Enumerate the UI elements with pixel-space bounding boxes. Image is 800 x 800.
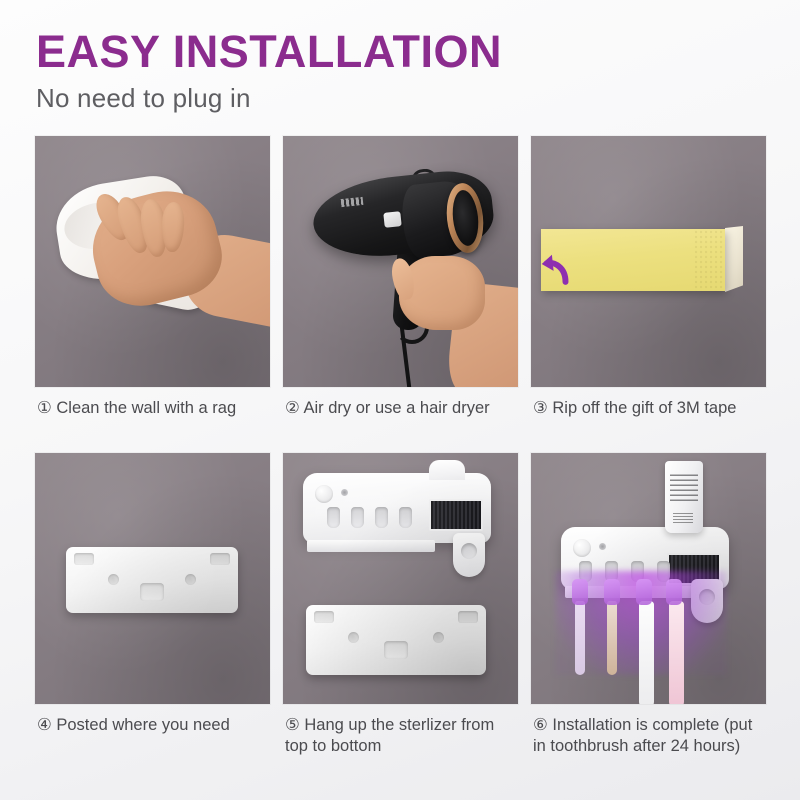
solar-panel <box>429 499 483 531</box>
step-3-caption: ③ Rip off the gift of 3M tape <box>531 387 766 449</box>
peel-arrow-icon <box>540 253 574 287</box>
indicator-led <box>341 489 348 496</box>
plate-notch <box>314 611 334 623</box>
brush-slot <box>375 507 388 528</box>
step-2-photo <box>283 136 518 387</box>
toothbrush <box>575 601 585 675</box>
step-4-caption: ④ Posted where you need <box>35 704 270 778</box>
step-card-3: ③ Rip off the gift of 3M tape <box>531 136 766 449</box>
step-card-6: ⑥ Installation is complete (put in tooth… <box>531 453 766 778</box>
power-knob <box>573 539 591 557</box>
mounting-plate <box>306 605 486 675</box>
toothbrush <box>669 601 684 704</box>
step-card-4: ④ Posted where you need <box>35 453 270 778</box>
page-header: EASY INSTALLATION No need to plug in <box>0 0 800 114</box>
plate-center-tab <box>384 641 408 659</box>
indicator-led <box>599 543 606 550</box>
brush-slot <box>327 507 340 528</box>
toothbrush-head <box>572 579 588 605</box>
step-2-caption: ② Air dry or use a hair dryer <box>283 387 518 449</box>
plate-hole <box>348 632 359 643</box>
plate-notch <box>74 553 94 565</box>
hair-dryer-switch <box>383 211 401 228</box>
step-6-caption: ⑥ Installation is complete (put in tooth… <box>531 704 766 778</box>
plate-hole <box>433 632 444 643</box>
step-5-photo <box>283 453 518 704</box>
step-5-caption: ⑤ Hang up the sterlizer from top to bott… <box>283 704 518 778</box>
unit-bottom-lip <box>307 540 435 552</box>
brush-slot <box>351 507 364 528</box>
toothbrush <box>639 601 654 704</box>
plate-center-tab <box>140 583 164 601</box>
brush-slot <box>399 507 412 528</box>
plate-notch <box>458 611 478 623</box>
step-6-photo <box>531 453 766 704</box>
toothbrush <box>607 601 617 675</box>
step-1-photo <box>35 136 270 387</box>
step-3-photo <box>531 136 766 387</box>
step-card-1: ① Clean the wall with a rag <box>35 136 270 449</box>
dispenser-top-cap <box>429 460 465 480</box>
tape-backing-edge <box>725 226 743 292</box>
toothbrush-head <box>604 579 620 605</box>
power-knob <box>315 485 333 503</box>
page-subtitle: No need to plug in <box>36 83 800 114</box>
plate-hole <box>185 574 196 585</box>
sterilizer-unit <box>303 473 491 543</box>
plate-hole <box>108 574 119 585</box>
step-4-photo <box>35 453 270 704</box>
toothbrush-head <box>666 579 682 605</box>
plate-notch <box>210 553 230 565</box>
step-card-5: ⑤ Hang up the sterlizer from top to bott… <box>283 453 518 778</box>
mounting-plate <box>66 547 238 613</box>
toothpaste-dispenser <box>453 533 485 577</box>
step-1-caption: ① Clean the wall with a rag <box>35 387 270 449</box>
toothpaste-tube <box>665 461 703 533</box>
page-title: EASY INSTALLATION <box>36 28 800 75</box>
step-card-2: ② Air dry or use a hair dryer <box>283 136 518 449</box>
toothbrush-head <box>636 579 652 605</box>
steps-grid: ① Clean the wall with a rag ② Air dry or… <box>35 136 765 778</box>
